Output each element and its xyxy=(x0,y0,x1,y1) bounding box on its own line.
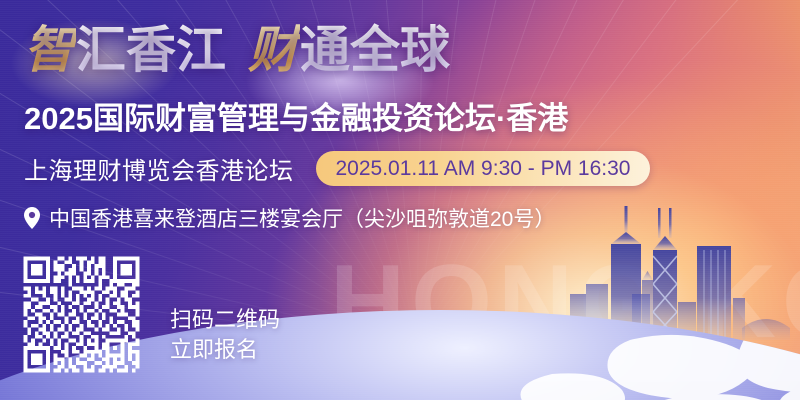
venue-address: 中国香港喜来登酒店三楼宴会厅（尖沙咀弥敦道20号） xyxy=(49,203,555,233)
event-date-badge: 2025.01.11 AM 9:30 - PM 16:30 xyxy=(316,151,651,186)
forum-name: 上海理财博览会香港论坛 xyxy=(24,151,294,186)
headline-white-2: 通全球 xyxy=(300,22,450,78)
cta-text: 扫码二维码 立即报名 xyxy=(170,305,280,366)
forum-date-row: 上海理财博览会香港论坛 2025.01.11 AM 9:30 - PM 16:3… xyxy=(24,151,650,186)
banner-subtitle: 2025国际财富管理与金融投资论坛·香港 xyxy=(24,93,568,138)
event-banner: HONG KONG xyxy=(0,0,800,400)
venue-row: 中国香港喜来登酒店三楼宴会厅（尖沙咀弥敦道20号） xyxy=(24,203,555,233)
location-pin-icon xyxy=(24,207,40,229)
headline-gold-2: 财 xyxy=(248,22,300,78)
cta-line-1: 扫码二维码 xyxy=(170,305,280,335)
headline-gold-1: 智 xyxy=(24,22,76,78)
qr-code-icon[interactable] xyxy=(20,253,143,376)
headline-white-1: 汇香江 xyxy=(76,22,226,78)
cta-line-2: 立即报名 xyxy=(170,335,280,365)
banner-headline: 智汇香江财通全球 xyxy=(24,24,450,77)
